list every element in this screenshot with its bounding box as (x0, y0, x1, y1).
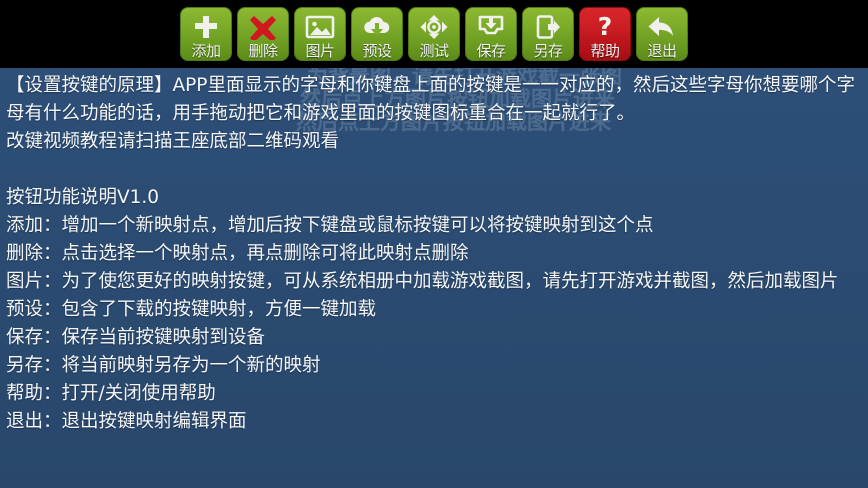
delete-button-label: 删除 (248, 42, 277, 60)
preset-button[interactable]: 预设 (351, 7, 403, 61)
help-item-help: 帮助：打开/关闭使用帮助 (4, 380, 868, 408)
help-tutorial-line: 改键视频教程请扫描王座底部二维码观看 (4, 128, 868, 156)
test-button[interactable]: 测试 (408, 7, 460, 61)
test-button-label: 测试 (419, 42, 448, 60)
plus-icon (189, 13, 223, 41)
image-button[interactable]: 图片 (294, 7, 346, 61)
save-inbox-icon (474, 13, 508, 41)
add-button[interactable]: 添加 (180, 7, 232, 61)
help-text-content: 【设置按键的原理】APP里面显示的字母和你键盘上面的按键是一一对应的，然后这些字… (0, 68, 868, 436)
back-arrow-icon (645, 13, 679, 41)
help-panel: 为背景图，请先打开游戏截一张图 然后点上方图片按钮加载图片进来 然后点上方图片按… (0, 68, 868, 488)
help-intro-paragraph: 【设置按键的原理】APP里面显示的字母和你键盘上面的按键是一一对应的，然后这些字… (4, 72, 868, 128)
toolbar: 添加 删除 图片 (0, 0, 868, 68)
exit-button[interactable]: 退出 (636, 7, 688, 61)
help-item-exit: 退出：退出按键映射编辑界面 (4, 408, 868, 436)
svg-text:?: ? (598, 14, 613, 40)
help-section-title: 按钮功能说明V1.0 (4, 184, 868, 212)
target-icon (417, 13, 451, 41)
question-mark-icon: ? (588, 13, 622, 41)
help-button[interactable]: ? 帮助 (579, 7, 631, 61)
save-as-icon (531, 13, 565, 41)
help-button-label: 帮助 (590, 42, 619, 60)
add-button-label: 添加 (191, 42, 220, 60)
text-spacer (4, 156, 868, 184)
help-item-image: 图片：为了使您更好的映射按键，可从系统相册中加载游戏截图，请先打开游戏并截图，然… (4, 268, 868, 296)
save-as-button-label: 另存 (533, 42, 562, 60)
help-item-delete: 删除：点击选择一个映射点，再点删除可将此映射点删除 (4, 240, 868, 268)
image-button-label: 图片 (305, 42, 334, 60)
help-item-save-as: 另存：将当前映射另存为一个新的映射 (4, 352, 868, 380)
delete-button[interactable]: 删除 (237, 7, 289, 61)
cross-icon (246, 13, 280, 41)
exit-button-label: 退出 (647, 42, 676, 60)
image-icon (303, 13, 337, 41)
app-screen: 添加 删除 图片 (0, 0, 868, 488)
save-button[interactable]: 保存 (465, 7, 517, 61)
save-as-button[interactable]: 另存 (522, 7, 574, 61)
save-button-label: 保存 (476, 42, 505, 60)
help-item-preset: 预设：包含了下载的按键映射，方便一键加载 (4, 296, 868, 324)
help-item-add: 添加：增加一个新映射点，增加后按下键盘或鼠标按键可以将按键映射到这个点 (4, 212, 868, 240)
cloud-download-icon (360, 13, 394, 41)
preset-button-label: 预设 (362, 42, 391, 60)
help-item-save: 保存：保存当前按键映射到设备 (4, 324, 868, 352)
